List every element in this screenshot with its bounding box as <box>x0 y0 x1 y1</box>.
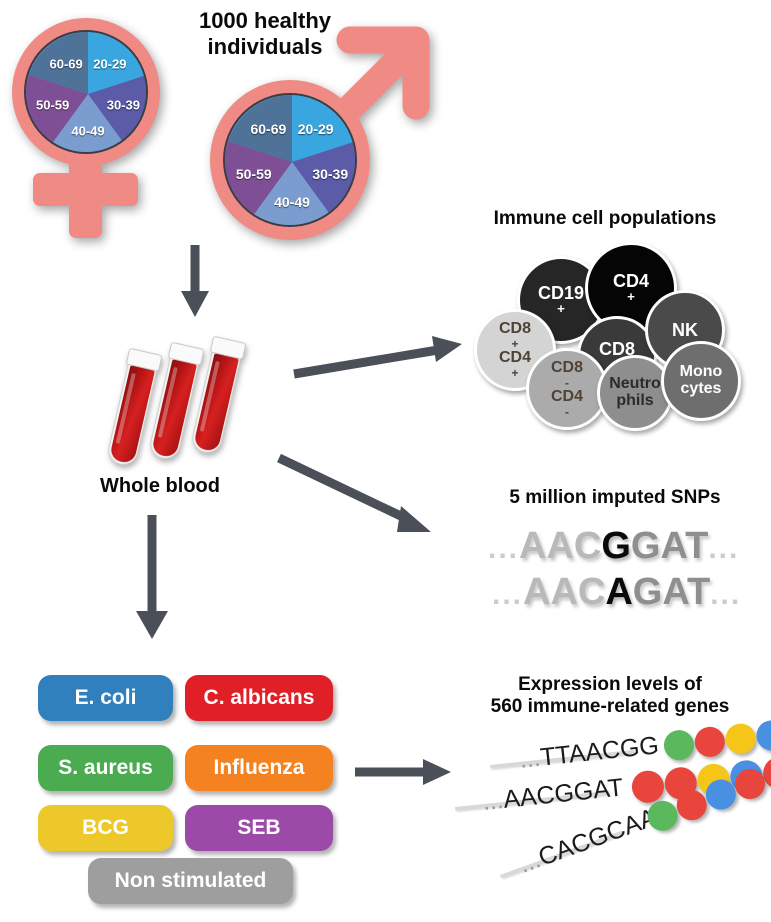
strand-ellipsis: ... <box>515 845 544 878</box>
stimulus-label: Non stimulated <box>115 869 267 893</box>
section-title-expression: Expression levels of560 immune-related g… <box>455 674 765 719</box>
stimulus-pill[interactable]: Non stimulated <box>88 858 293 904</box>
stimulus-label: E. coli <box>75 686 137 710</box>
strand-sequence-text: ...AACGGAT <box>481 773 624 817</box>
strand-ellipsis: ... <box>481 786 505 816</box>
strand-bead <box>724 722 757 755</box>
expression-strands: ...TTAACGG...AACGGAT...CACGCAA <box>455 725 771 915</box>
strand-ellipsis: ... <box>518 744 542 774</box>
strand-bead <box>662 729 695 762</box>
stimulus-pill[interactable]: C. albicans <box>185 675 333 721</box>
stimulus-label: BCG <box>82 816 129 840</box>
strand-bead <box>693 725 726 758</box>
stimulus-pill[interactable]: S. aureus <box>38 745 173 791</box>
stimulus-pill[interactable]: BCG <box>38 805 173 851</box>
stimulus-pill[interactable]: Influenza <box>185 745 333 791</box>
stimulus-pill[interactable]: SEB <box>185 805 333 851</box>
stimulus-pill[interactable]: E. coli <box>38 675 173 721</box>
stimulus-label: SEB <box>237 816 280 840</box>
stimulus-label: S. aureus <box>58 756 153 780</box>
stimulus-label: C. albicans <box>204 686 315 710</box>
stimulus-label: Influenza <box>213 756 304 780</box>
strand-bead <box>755 719 771 752</box>
figure-canvas: 1000 healthyindividuals 20-2930-3940-495… <box>0 0 771 922</box>
